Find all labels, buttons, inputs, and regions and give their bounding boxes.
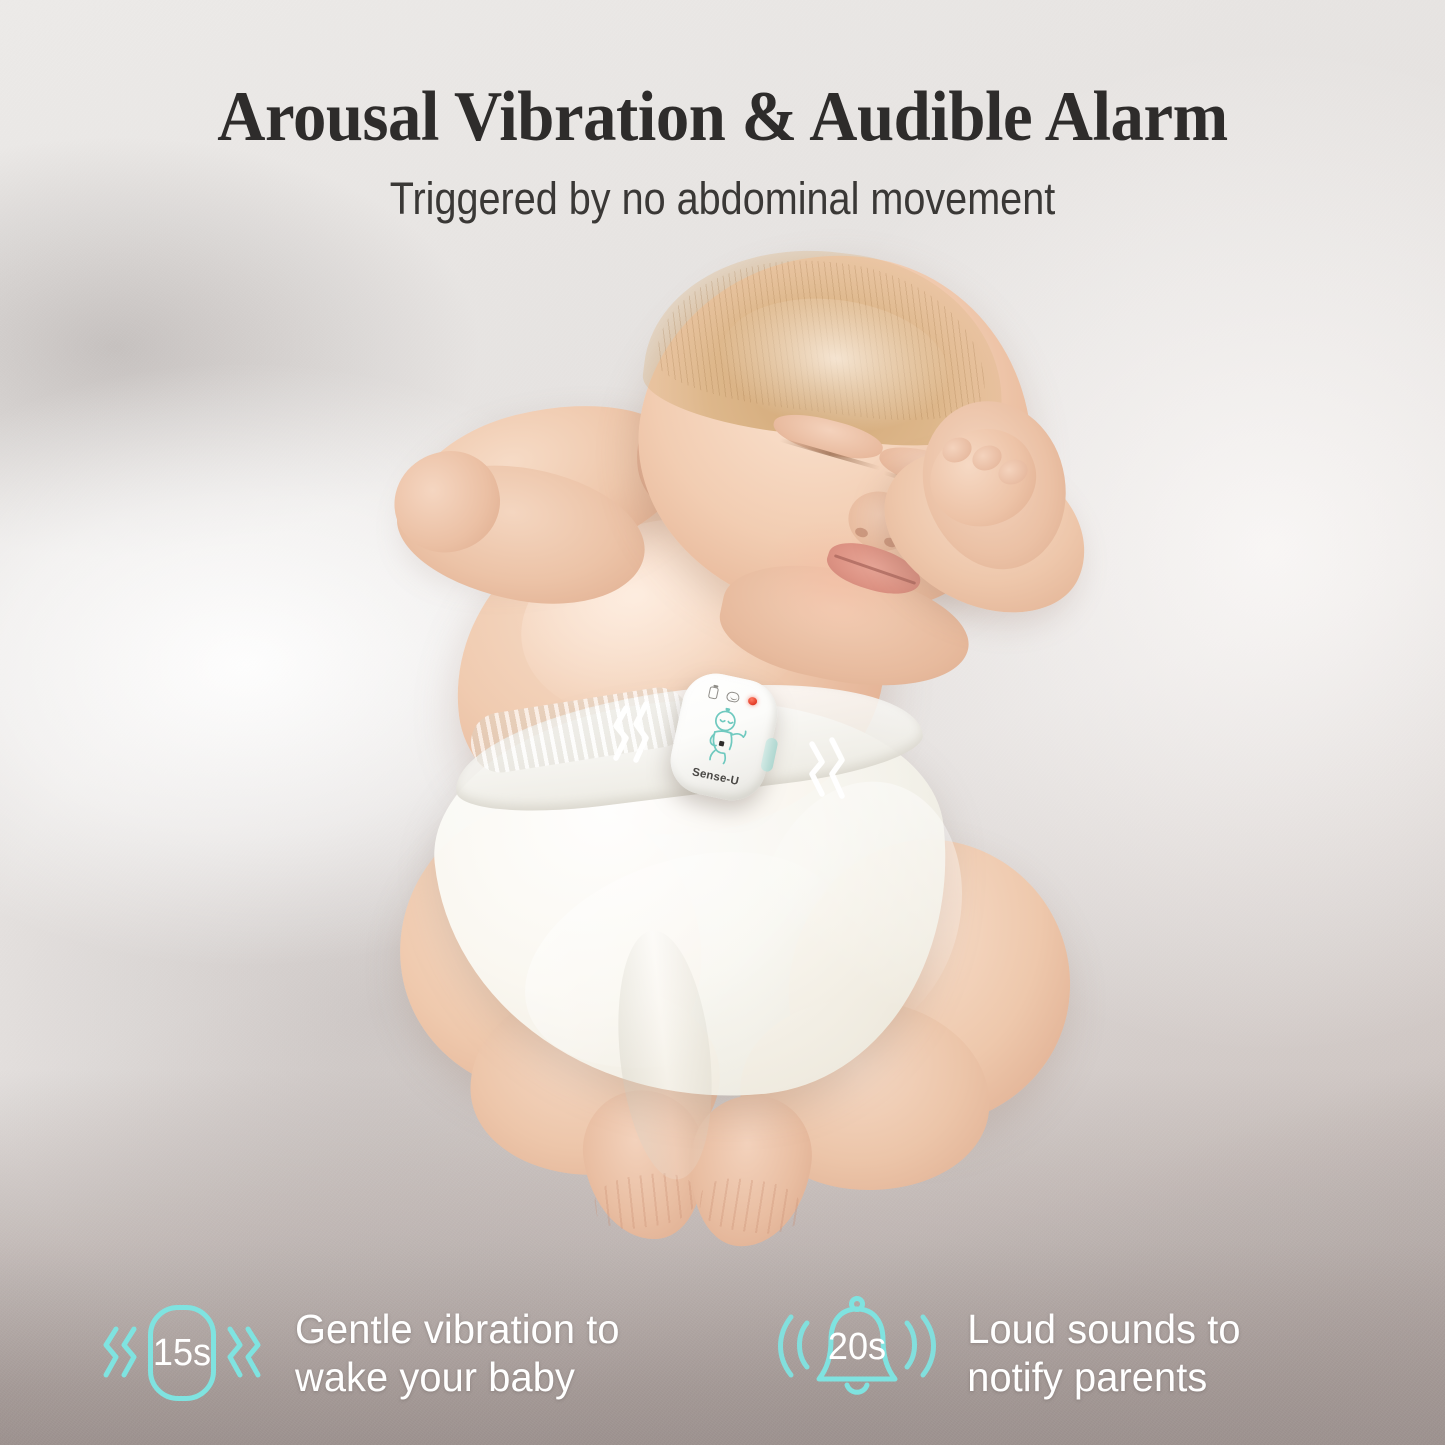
- baby-logo-icon: [687, 702, 762, 772]
- feature-vibration-line2: wake your baby: [295, 1353, 620, 1401]
- feature-vibration: 15s Gentle vibration to wake your baby: [96, 1297, 773, 1409]
- page-title: Arousal Vibration & Audible Alarm: [43, 82, 1401, 153]
- vibration-duration-label: 15s: [150, 1305, 215, 1401]
- battery-icon: [707, 686, 718, 700]
- feature-vibration-text: Gentle vibration to wake your baby: [295, 1305, 620, 1402]
- vibration-wave-right-icon: [214, 1323, 262, 1390]
- vibration-capsule-icon: 15s: [96, 1297, 268, 1409]
- alarm-bell-icon: 20s: [773, 1295, 941, 1411]
- feature-callouts: 15s Gentle vibration to wake your baby: [0, 1295, 1445, 1411]
- vibration-wave-left-icon: [102, 1323, 150, 1390]
- led-indicator-icon: [747, 696, 757, 706]
- feature-alarm: 20s Loud sounds to notify parents: [773, 1295, 1349, 1411]
- alarm-duration-label: 20s: [819, 1319, 895, 1375]
- feature-alarm-line1: Loud sounds to: [967, 1305, 1240, 1353]
- feature-alarm-text: Loud sounds to notify parents: [967, 1305, 1240, 1402]
- product-feature-image: Sense-U Arousal Vibration & Audible Alar…: [0, 0, 1445, 1445]
- page-subtitle: Triggered by no abdominal movement: [87, 176, 1359, 221]
- feature-vibration-line1: Gentle vibration to: [295, 1305, 620, 1353]
- feature-alarm-line2: notify parents: [967, 1353, 1240, 1401]
- cloud-icon: [725, 691, 740, 703]
